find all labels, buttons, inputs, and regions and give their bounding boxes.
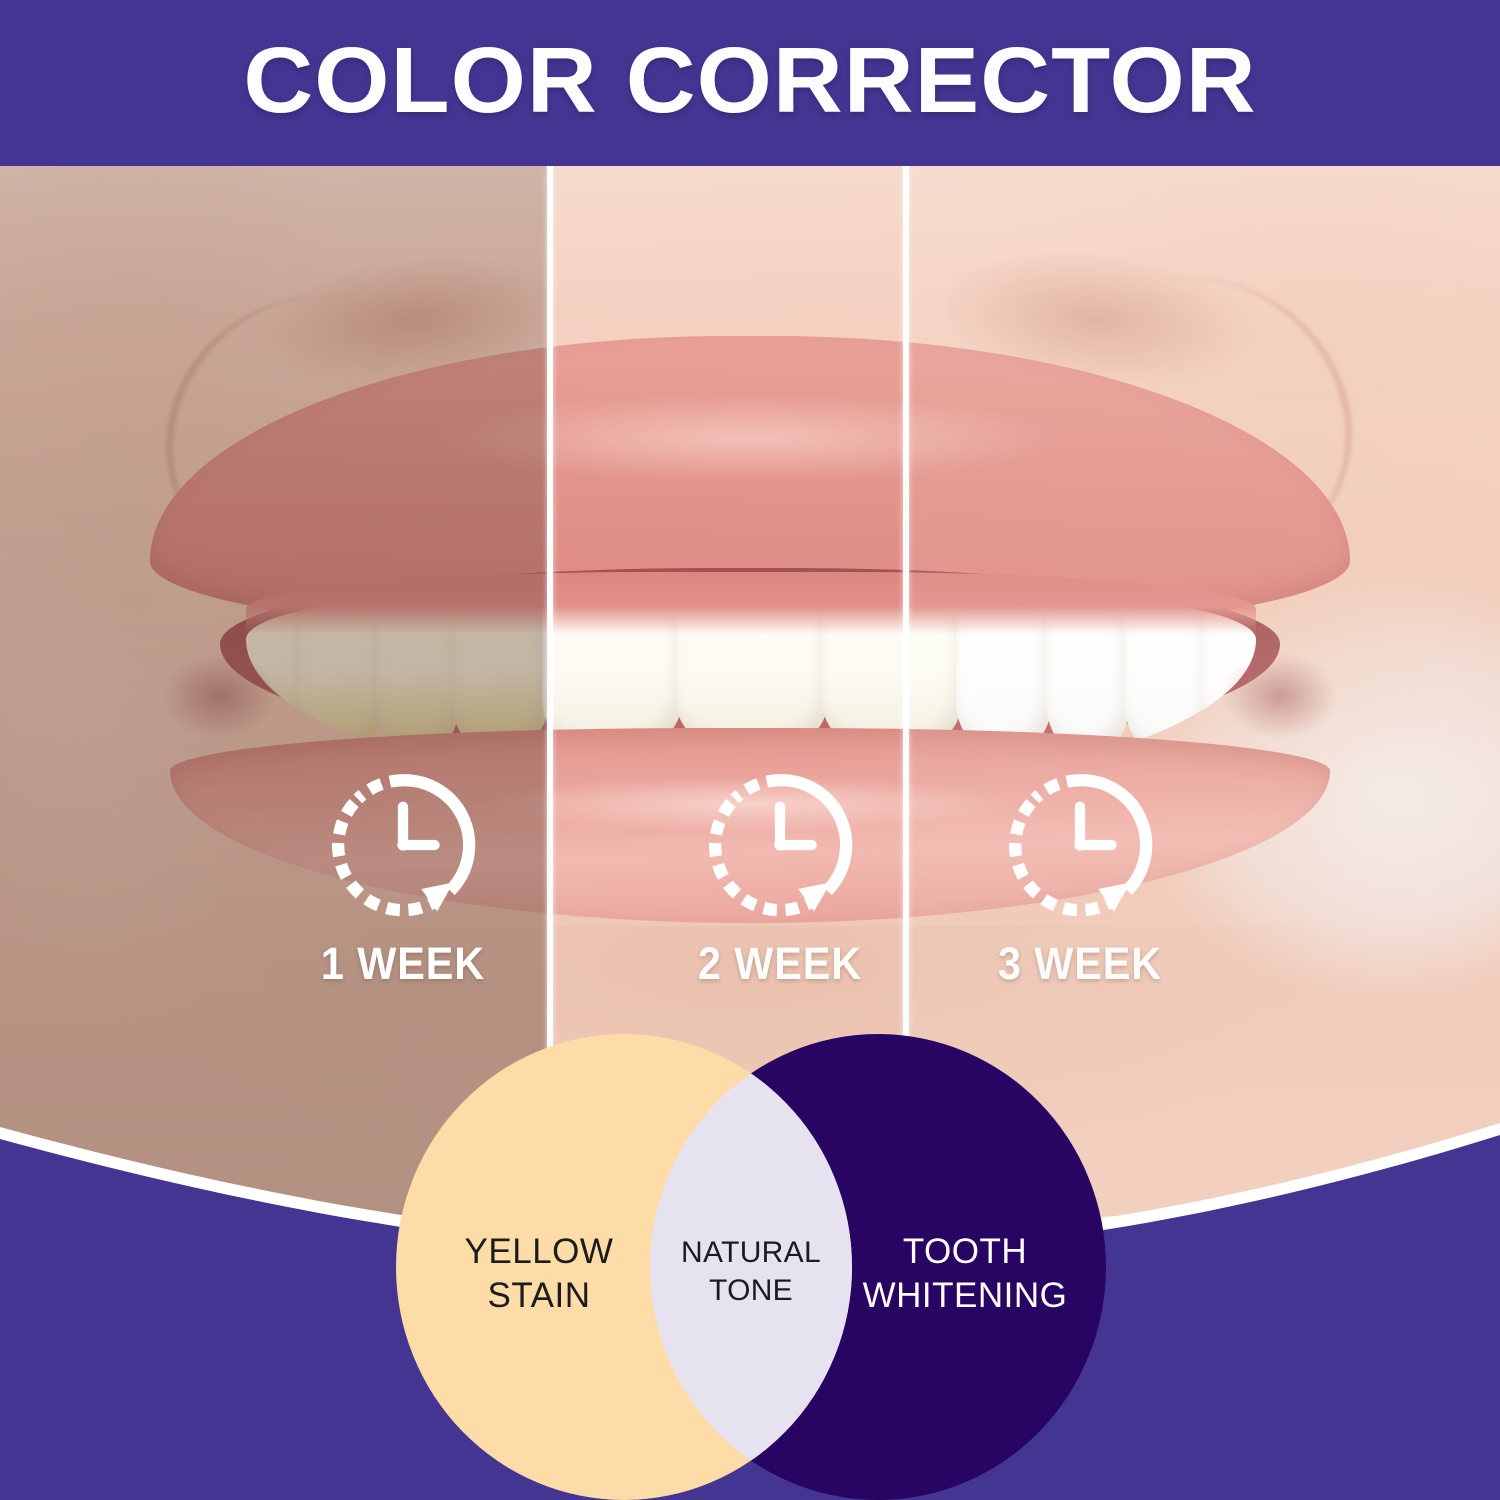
page-title: COLOR CORRECTOR bbox=[0, 28, 1500, 132]
timeline-marker-3: 3 WEEK bbox=[930, 762, 1230, 990]
timeline-marker-label: 2 WEEK bbox=[642, 938, 918, 990]
timeline-markers: 1 WEEK bbox=[0, 762, 1500, 1002]
header-band: COLOR CORRECTOR bbox=[0, 0, 1500, 166]
venn-label-tooth-whitening: TOOTH WHITENING bbox=[836, 1230, 1094, 1318]
venn-label-yellow-stain: YELLOW STAIN bbox=[414, 1230, 664, 1318]
upper-lip-highlight bbox=[310, 378, 1190, 498]
venn-diagram: YELLOW STAIN NATURAL TONE TOOTH WHITENIN… bbox=[396, 1034, 1106, 1500]
gum-line bbox=[246, 572, 1256, 634]
clock-arrow-icon bbox=[930, 762, 1230, 928]
timeline-marker-1: 1 WEEK bbox=[253, 762, 553, 990]
clock-arrow-icon bbox=[253, 762, 553, 928]
venn-label-natural-tone: NATURAL TONE bbox=[661, 1234, 841, 1310]
product-infographic: 1 WEEK bbox=[0, 0, 1500, 1500]
clock-arrow-icon bbox=[630, 762, 930, 928]
timeline-marker-label: 1 WEEK bbox=[265, 938, 541, 990]
timeline-marker-label: 3 WEEK bbox=[942, 938, 1218, 990]
timeline-marker-2: 2 WEEK bbox=[630, 762, 930, 990]
